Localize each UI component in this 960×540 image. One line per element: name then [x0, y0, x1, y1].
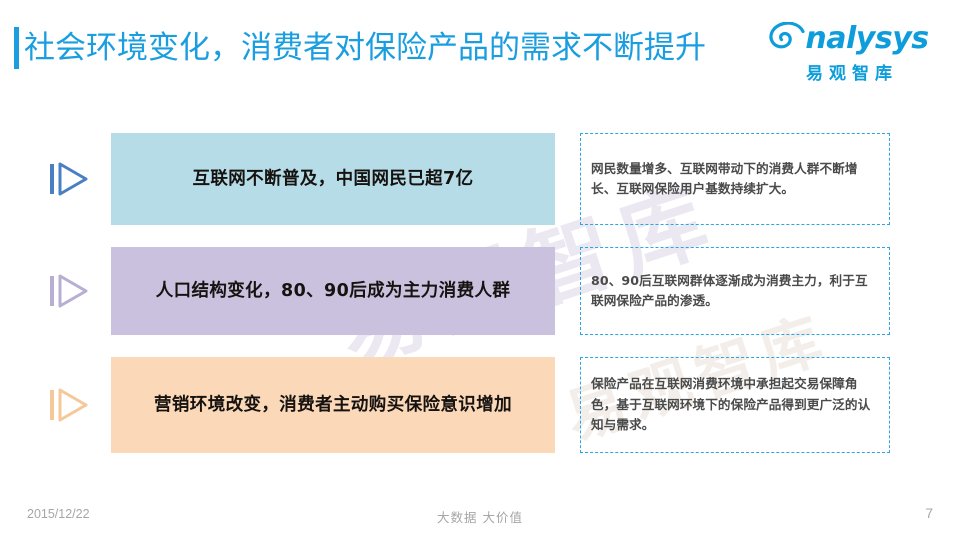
content-row: 营销环境改变，消费者主动购买保险意识增加 保险产品在互联网消费环境中承担起交易保… [0, 357, 960, 453]
content-row: 人口结构变化，80、90后成为主力消费人群 80、90后互联网群体逐渐成为消费主… [0, 247, 960, 335]
note-box: 80、90后互联网群体逐渐成为消费主力，利于互联网保险产品的渗透。 [580, 247, 890, 335]
band-label: 营销环境改变，消费者主动购买保险意识增加 [154, 394, 512, 417]
content-row: 互联网不断普及，中国网民已超7亿 网民数量增多、互联网带动下的消费人群不断增长、… [0, 133, 960, 225]
highlight-band: 营销环境改变，消费者主动购买保险意识增加 [111, 357, 555, 453]
logo-lockup: nalysys [764, 22, 934, 56]
highlight-band: 人口结构变化，80、90后成为主力消费人群 [111, 247, 555, 335]
slide-canvas: 易观智库 易观智库 社会环境变化，消费者对保险产品的需求不断提升 nalysys… [0, 0, 960, 540]
logo-chinese-name: 易观智库 [764, 59, 934, 84]
footer-tagline: 大数据 大价值 [0, 507, 960, 526]
note-box: 保险产品在互联网消费环境中承担起交易保障角色，基于互联网环境下的保险产品得到更广… [580, 357, 890, 453]
slide-header: 社会环境变化，消费者对保险产品的需求不断提升 nalysys 易观智库 [0, 0, 960, 100]
title-text: 社会环境变化，消费者对保险产品的需求不断提升 [24, 27, 706, 69]
logo-wordmark: nalysys [805, 24, 928, 54]
note-box: 网民数量增多、互联网带动下的消费人群不断增长、互联网保险用户基数持续扩大。 [580, 133, 890, 225]
slide-footer: 2015/12/22 大数据 大价值 7 [0, 496, 960, 540]
page-title: 社会环境变化，消费者对保险产品的需求不断提升 [14, 27, 706, 69]
note-text: 网民数量增多、互联网带动下的消费人群不断增长、互联网保险用户基数持续扩大。 [591, 159, 879, 200]
highlight-band: 互联网不断普及，中国网民已超7亿 [111, 133, 555, 225]
note-text: 80、90后互联网群体逐渐成为消费主力，利于互联网保险产品的渗透。 [591, 271, 879, 312]
play-triangle-icon [48, 159, 92, 199]
play-triangle-icon [48, 385, 92, 425]
band-label: 互联网不断普及，中国网民已超7亿 [192, 168, 473, 191]
band-label: 人口结构变化，80、90后成为主力消费人群 [156, 280, 511, 303]
analysys-logo: nalysys 易观智库 [764, 22, 934, 84]
footer-page-number: 7 [925, 506, 933, 521]
note-text: 保险产品在互联网消费环境中承担起交易保障角色，基于互联网环境下的保险产品得到更广… [591, 374, 879, 435]
title-accent-bar [14, 27, 19, 69]
play-triangle-icon [48, 271, 92, 311]
